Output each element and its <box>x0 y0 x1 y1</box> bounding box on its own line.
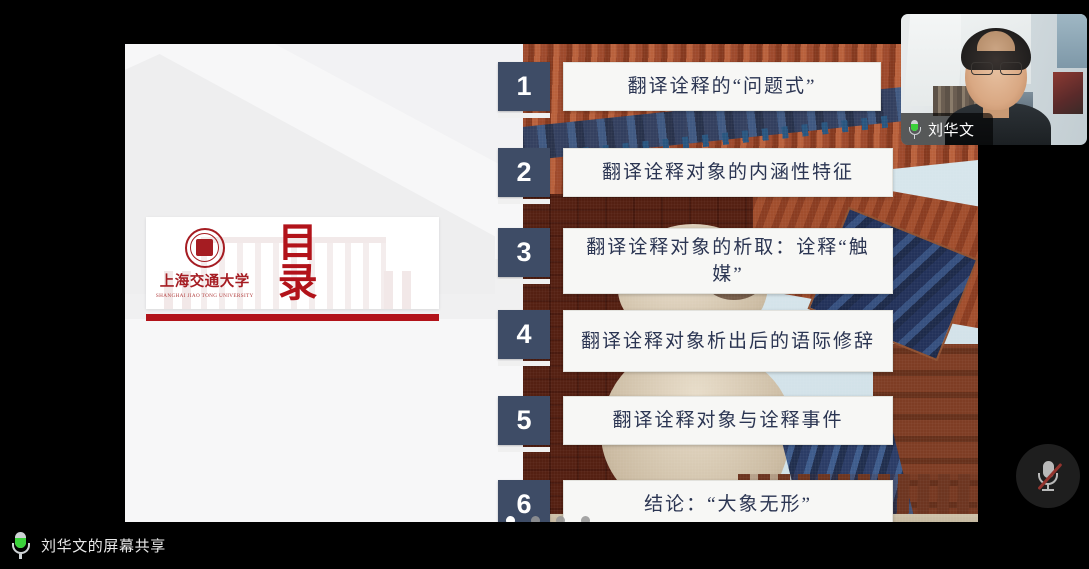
microphone-muted-icon <box>1037 461 1059 491</box>
participant-video-tile[interactable]: 刘华文 <box>901 14 1087 145</box>
mute-toggle-button[interactable] <box>1016 444 1080 508</box>
agenda-number-badge: 5 <box>498 396 550 445</box>
agenda-item-4: 4翻译诠释对象析出后的语际修辞 <box>498 310 893 372</box>
agenda-item-5: 5翻译诠释对象与诠释事件 <box>498 396 893 445</box>
agenda-item-text: 翻译诠释对象的内涵性特征 <box>563 148 893 197</box>
agenda-list: 1翻译诠释的“问题式”2翻译诠释对象的内涵性特征3翻译诠释对象的析取：诠释“触媒… <box>125 44 978 522</box>
participant-name-bar: 刘华文 <box>901 113 993 145</box>
agenda-item-1: 1翻译诠释的“问题式” <box>498 62 881 111</box>
agenda-number-badge: 2 <box>498 148 550 197</box>
agenda-number-badge: 1 <box>498 62 550 111</box>
agenda-item-3: 3翻译诠释对象的析取：诠释“触媒” <box>498 228 893 294</box>
agenda-item-2: 2翻译诠释对象的内涵性特征 <box>498 148 893 197</box>
agenda-item-text: 翻译诠释对象的析取：诠释“触媒” <box>563 228 893 294</box>
zoom-meeting-window: 上海交通大学 SHANGHAI JIAO TONG UNIVERSITY 目 录… <box>0 0 1089 569</box>
agenda-item-text: 结论：“大象无形” <box>563 480 893 522</box>
screen-share-status-bar: 刘华文的屏幕共享 <box>0 522 1089 569</box>
screen-share-status-text: 刘华文的屏幕共享 <box>41 535 166 556</box>
agenda-item-text: 翻译诠释对象与诠释事件 <box>563 396 893 445</box>
shared-screen-slide[interactable]: 上海交通大学 SHANGHAI JIAO TONG UNIVERSITY 目 录… <box>125 44 978 522</box>
agenda-item-text: 翻译诠释对象析出后的语际修辞 <box>563 310 893 372</box>
agenda-number-badge: 3 <box>498 228 550 277</box>
microphone-icon <box>908 120 921 139</box>
agenda-item-text: 翻译诠释的“问题式” <box>563 62 881 111</box>
participant-name: 刘华文 <box>928 119 975 140</box>
agenda-number-badge: 4 <box>498 310 550 359</box>
microphone-icon <box>11 532 30 559</box>
